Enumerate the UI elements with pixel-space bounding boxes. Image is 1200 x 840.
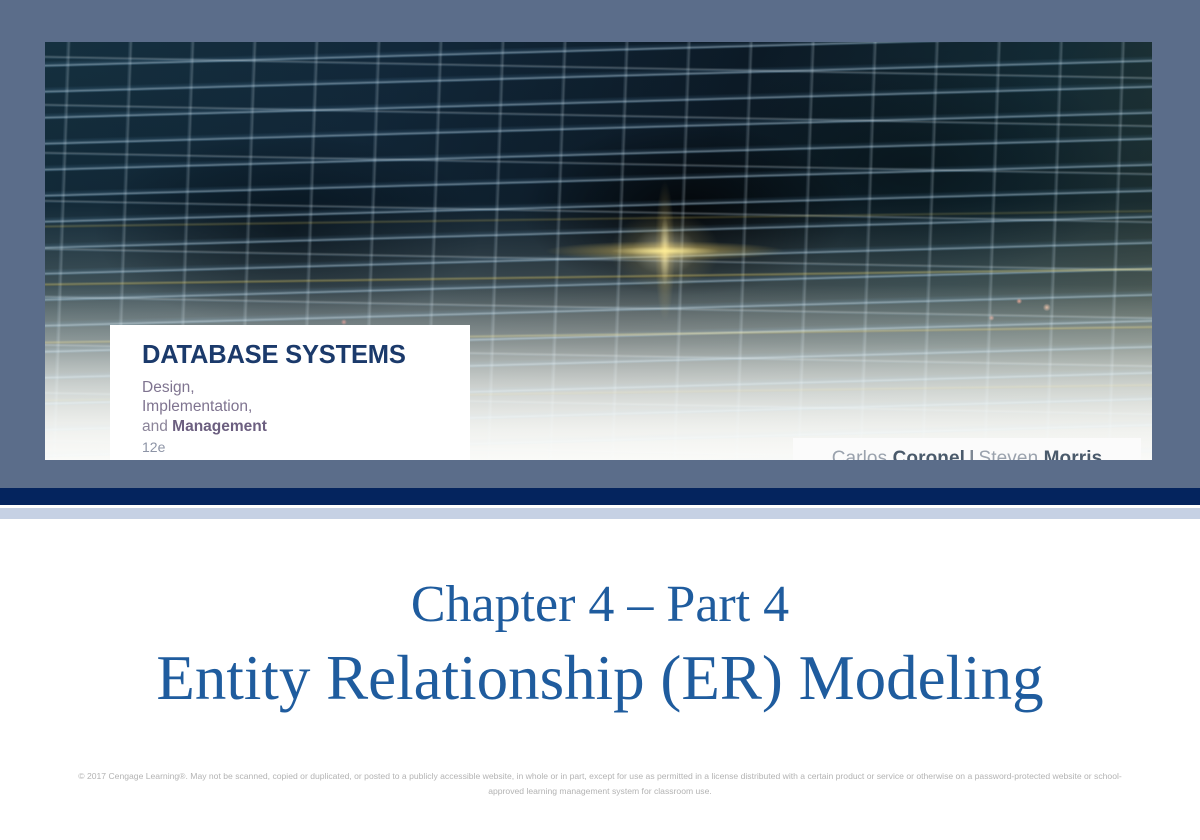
slide-title-line-1: Chapter 4 – Part 4 [0,574,1200,635]
authors-separator: | [965,448,978,460]
slide-title-line-2: Entity Relationship (ER) Modeling [0,635,1200,715]
book-authors-line: Carlos Coronel|Steven Morris [832,448,1103,460]
book-subtitle-line-1: Design, [142,378,470,398]
book-edition-label: 12e [142,437,470,458]
book-main-title: DATABASE SYSTEMS [142,343,470,369]
slide-title: Chapter 4 – Part 4 Entity Relationship (… [0,574,1200,716]
author-one-surname: Coronel [893,448,965,460]
book-subtitle-line-3: and Management [142,417,470,437]
book-subtitle-line-3-prefix: and [142,418,172,435]
book-authors-plate: Carlos Coronel|Steven Morris [793,438,1141,460]
book-subtitle-line-2: Implementation, [142,397,470,417]
slide-body: Chapter 4 – Part 4 Entity Relationship (… [0,519,1200,840]
book-subtitle-line-3-emphasis: Management [172,418,267,435]
accent-divider-rule [0,508,1200,519]
navy-divider-rule [0,488,1200,505]
book-title-plate: DATABASE SYSTEMS Design, Implementation,… [110,325,470,460]
book-cover-image: DATABASE SYSTEMS Design, Implementation,… [45,42,1152,460]
author-two-surname: Morris [1044,448,1103,460]
copyright-notice: © 2017 Cengage Learning®. May not be sca… [70,769,1130,799]
author-two-given-name: Steven [978,448,1043,460]
author-one-given-name: Carlos [832,448,893,460]
